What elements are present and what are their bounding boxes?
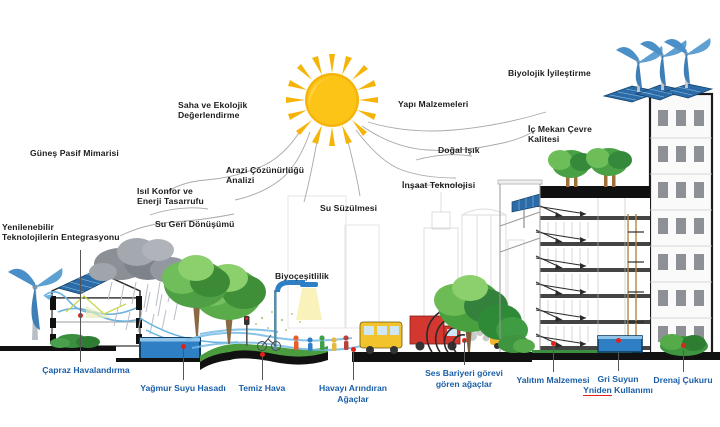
leader-line-drenaj-cukuru	[683, 350, 684, 372]
rainwater-cistern	[140, 338, 200, 360]
tree	[434, 275, 508, 352]
label-yenilenebilir-teknolojilerin-entegrasyonu: Yenilenebilir Teknolojilerin Entegrasyon…	[2, 222, 120, 243]
label-drenaj-cukuru: Drenaj Çukuru	[613, 375, 720, 386]
label-saha-ve-ekolojik-degerlendirme: Saha ve Ekolojik Değerlendirme	[178, 100, 247, 121]
label-gunes-pasif-mimarisi: Güneş Pasif Mimarisi	[30, 148, 119, 158]
label-ic-mekan-cevre-kalitesi: İç Mekan Çevre Kalitesi	[528, 124, 592, 145]
label-su-geri-donusumu: Su Geri Dönüşümü	[155, 219, 234, 229]
truck	[410, 316, 460, 351]
label-leader-curves	[0, 0, 720, 427]
people-group	[293, 335, 348, 351]
label-yapi-malzemeleri: Yapı Malzemeleri	[398, 99, 468, 109]
cutaway-building	[498, 148, 650, 354]
left-scene	[0, 0, 720, 427]
leader-line-yalitim-malzemesi	[553, 345, 554, 372]
wind-turbine-group	[616, 38, 711, 92]
background-skyline	[0, 0, 720, 427]
wind-turbine-left	[8, 268, 62, 340]
traffic-light	[244, 316, 250, 346]
car	[490, 330, 514, 349]
shrub	[498, 335, 535, 353]
shrub	[50, 334, 100, 348]
leader-line-havayi-arindiran-agaclar	[353, 352, 354, 380]
label-arazi-cozunurlugu-analizi: Arazi Çözünürlüğü Analizi	[226, 165, 304, 186]
leader-line-temiz-hava	[262, 357, 263, 380]
solar-panel-icon	[604, 84, 712, 102]
solar-house-section	[44, 258, 146, 346]
marker-dot-gri-suyun	[616, 338, 621, 343]
rain	[108, 282, 178, 334]
leader-line-capraz-havalandirma	[80, 250, 81, 362]
high-rise-tower	[650, 94, 712, 356]
right-scene	[0, 0, 720, 427]
street-lamp	[274, 280, 322, 350]
solar-panel-icon	[512, 194, 540, 228]
tree	[162, 255, 230, 336]
label-biyolojik-iyilestirme: Biyolojik İyileştirme	[508, 68, 591, 78]
sun-icon	[0, 0, 720, 427]
leader-line-gri-suyun-yniden-kullanimi	[618, 352, 619, 371]
center-scene	[0, 0, 720, 427]
rooftop-tree	[548, 150, 594, 187]
label-isil-konfor-ve-enerji-tasarrufu: Isıl Konfor ve Enerji Tasarrufu	[137, 186, 204, 207]
marker-dot-drenaj-cukuru	[681, 343, 686, 348]
rooftop-tree	[586, 148, 632, 187]
rain-cloud-icon	[89, 238, 190, 283]
solar-panel-icon	[58, 258, 146, 294]
label-dogal-isik: Doğal Işık	[438, 145, 480, 155]
leader-line-ses-bariyeri-goren-agaclar	[464, 340, 465, 365]
tree	[478, 304, 528, 343]
bus	[360, 322, 402, 354]
infographic-canvas: Güneş Pasif MimarisiYenilenebilir Teknol…	[0, 0, 720, 427]
label-su-suzulmesi: Su Süzülmesi	[320, 203, 377, 213]
label-capraz-havalandirma: Çapraz Havalandırma	[16, 365, 156, 376]
label-insaat-teknolojisi: İnşaat Teknolojisi	[402, 180, 475, 190]
label-biyocesitlilik: Biyoçeşitlilik	[275, 271, 329, 281]
bicycle	[258, 335, 281, 351]
sound-wave-icon	[427, 308, 465, 352]
leader-line-yagmur-suyu-hasadi	[183, 347, 184, 380]
tree	[190, 264, 266, 344]
